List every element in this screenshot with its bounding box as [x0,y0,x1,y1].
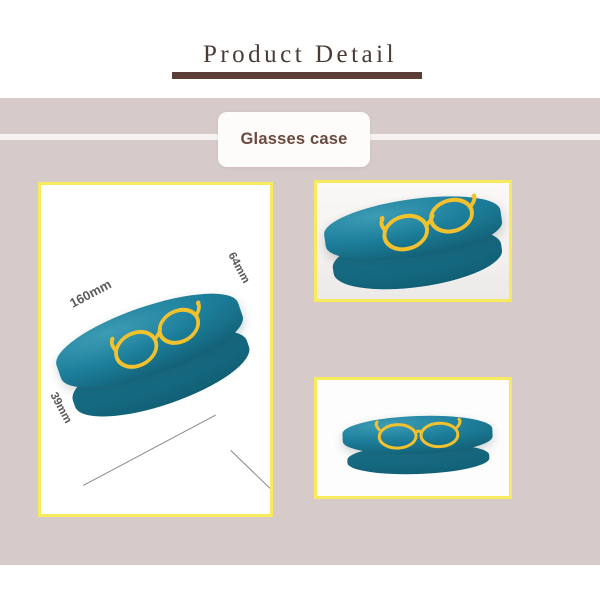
page-title: Product Detail [0,41,600,69]
glasses-case-angled [319,185,512,302]
section-label-chip: Glasses case [218,112,370,167]
eyeglasses-icon [372,416,465,451]
product-detail-page: Product Detail Glasses case [0,0,600,600]
glasses-case-front [342,413,494,484]
product-photo-dimensioned [41,185,270,514]
page-header: Product Detail [0,0,600,98]
title-underline-rule [172,72,422,79]
product-photo-angled [317,183,509,299]
product-photo-front [317,380,509,496]
panel-dimensioned-product-photo[interactable] [38,182,273,517]
panel-product-photo-front-view[interactable] [314,377,512,499]
panel-product-photo-angled-closeup[interactable] [314,180,512,302]
section-label-text: Glasses case [241,130,348,149]
